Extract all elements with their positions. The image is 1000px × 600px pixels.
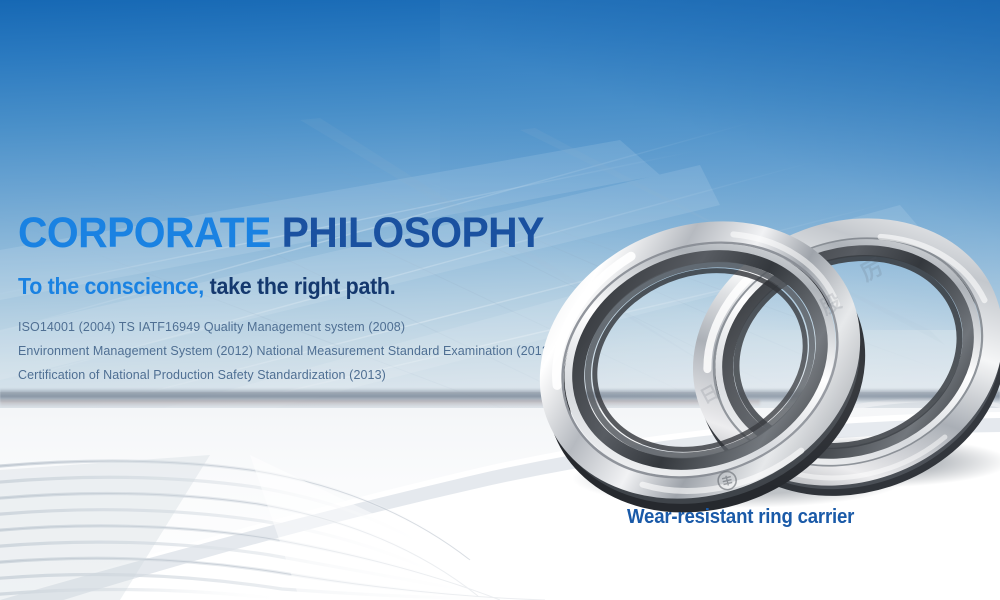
page-subtitle-part2: take the right path.: [204, 273, 395, 299]
page-title-part1: CORPORATE: [18, 209, 271, 257]
page-title-part2: PHILOSOPHY: [271, 209, 544, 257]
product-caption: Wear-resistant ring carrier: [627, 505, 854, 529]
page-subtitle-part1: To the conscience,: [18, 273, 204, 299]
corporate-philosophy-banner: CORPORATE PHILOSOPHY To the conscience, …: [0, 0, 1000, 600]
wear-resistant-ring-product-image: [510, 210, 1000, 520]
page-subtitle: To the conscience, take the right path.: [18, 272, 595, 300]
